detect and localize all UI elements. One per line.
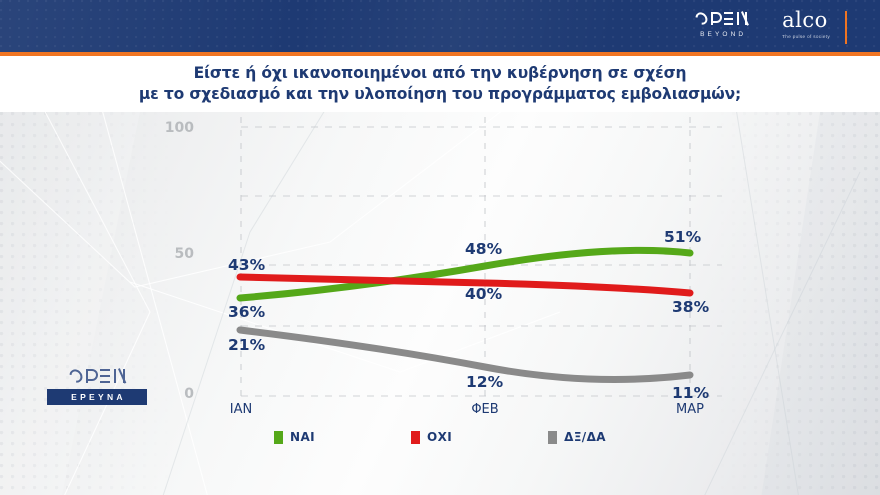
chart-panel: ΕΡΕΥΝΑ 100 50 0: [0, 112, 880, 495]
header-bar: BEYOND alco The pulse of society: [0, 0, 880, 52]
title-line-1: Είστε ή όχι ικανοποιημένοι από την κυβέρ…: [0, 63, 880, 84]
x-tick-ian: ΙΑΝ: [201, 402, 281, 417]
chart-legend: ΝΑΙ ΟΧΙ ΔΞ/ΔΑ: [0, 430, 880, 444]
x-tick-fev: ΦΕΒ: [445, 402, 525, 417]
title-line-2: με το σχεδιασμό και την υλοποίηση του πρ…: [0, 84, 880, 105]
x-tick-mar: ΜΑΡ: [650, 402, 730, 417]
poll-graphic: BEYOND alco The pulse of society Είστε ή…: [0, 0, 880, 495]
y-tick-0: 0: [150, 386, 194, 402]
letter-n-icon: [737, 12, 747, 25]
header-logos: BEYOND alco The pulse of society: [696, 10, 847, 44]
label-dk-mar: 11%: [672, 384, 709, 402]
gridlines: [241, 127, 722, 396]
label-dk-fev: 12%: [466, 373, 503, 391]
legend-item-nai[interactable]: ΝΑΙ: [274, 430, 315, 444]
open-wordmark-icon: [696, 10, 747, 27]
label-oxi-mar: 38%: [672, 298, 709, 316]
legend-label: ΝΑΙ: [290, 430, 315, 444]
legend-swatch-icon: [411, 431, 420, 444]
open-beyond-logo: BEYOND: [696, 10, 765, 38]
logo-divider-bar: [845, 11, 847, 44]
alco-tagline: The pulse of society: [782, 34, 830, 39]
letter-e-icon: [724, 12, 733, 25]
label-oxi-ian: 43%: [228, 256, 265, 274]
alco-wordmark: alco: [782, 10, 830, 31]
series-line-dk: [240, 330, 690, 380]
letter-p-icon: [711, 12, 720, 25]
legend-item-dk[interactable]: ΔΞ/ΔΑ: [548, 430, 606, 444]
label-oxi-fev: 40%: [465, 285, 502, 303]
page-title: Είστε ή όχι ικανοποιημένοι από την κυβέρ…: [0, 56, 880, 105]
legend-label: ΟΧΙ: [427, 430, 452, 444]
legend-item-oxi[interactable]: ΟΧΙ: [411, 430, 452, 444]
y-tick-50: 50: [150, 246, 194, 262]
label-dk-ian: 21%: [228, 336, 265, 354]
open-beyond-subtitle: BEYOND: [696, 31, 747, 38]
alco-logo: alco The pulse of society: [765, 10, 830, 39]
legend-swatch-icon: [274, 431, 283, 444]
title-band: Είστε ή όχι ικανοποιημένοι από την κυβέρ…: [0, 56, 880, 112]
legend-swatch-icon: [548, 431, 557, 444]
letter-o-icon: [693, 10, 710, 27]
label-nai-fev: 48%: [465, 240, 502, 258]
label-nai-mar: 51%: [664, 228, 701, 246]
label-nai-ian: 36%: [228, 303, 265, 321]
legend-label: ΔΞ/ΔΑ: [564, 430, 606, 444]
y-tick-100: 100: [150, 120, 194, 136]
